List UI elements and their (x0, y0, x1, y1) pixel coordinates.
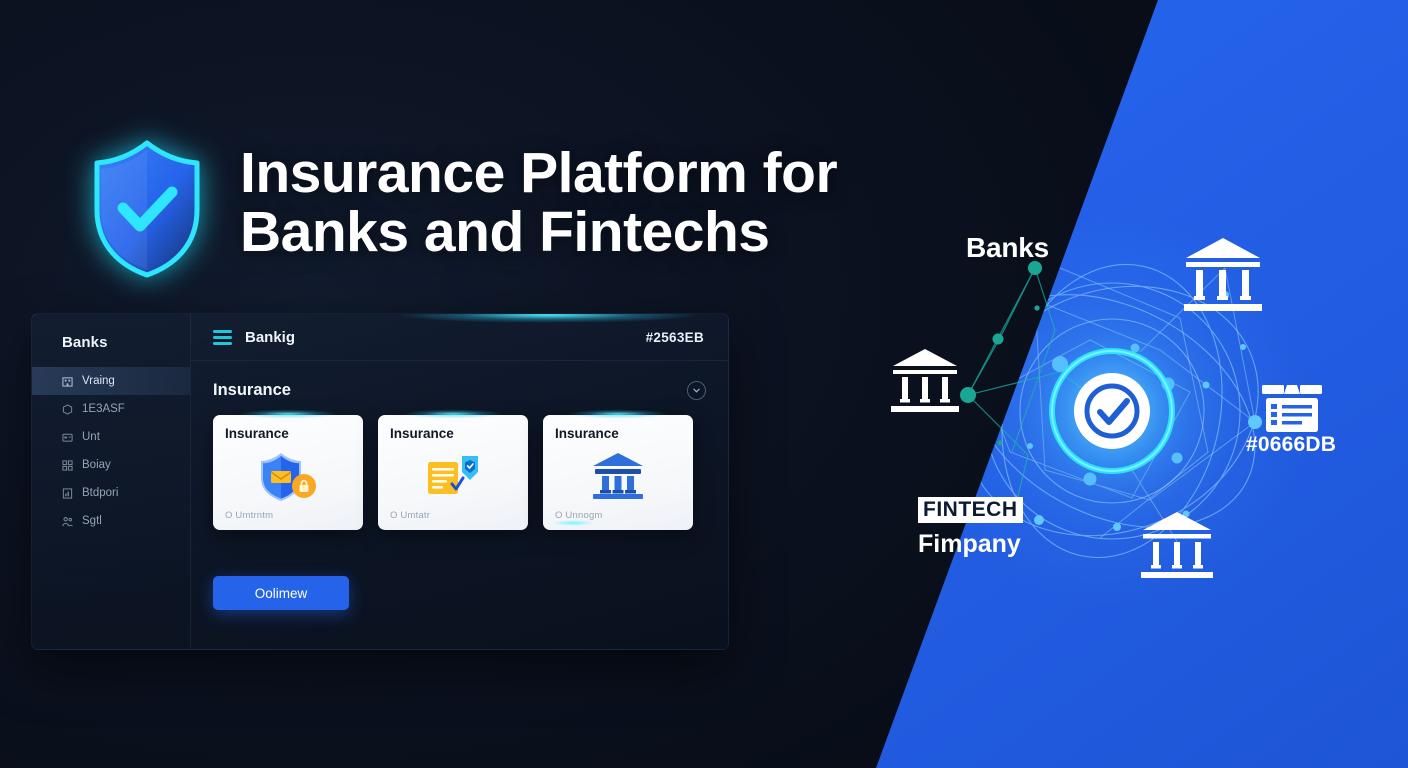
headline-line-1: Insurance Platform for (240, 144, 837, 203)
document-shield-icon (390, 441, 516, 510)
sidebar-item-sgtl[interactable]: Sgtl (32, 507, 190, 535)
sidebar-item-label: Btdpori (82, 487, 118, 499)
report-icon (62, 488, 73, 499)
dashboard-card: Banks Vraing 1E3ASF (31, 313, 729, 650)
building-icon (62, 376, 73, 387)
insurance-tile-shield[interactable]: Insurance (213, 415, 363, 530)
tile-subtitle: O Umtrntm (225, 510, 351, 521)
hero-banner: Banks #0666DB FINTECH Fimpany Insurance … (0, 0, 1408, 768)
section-title: Insurance (213, 381, 291, 400)
insurance-tile-bank[interactable]: Insurance (543, 415, 693, 530)
fintech-badge-label: FINTECH (918, 497, 1023, 523)
tile-subtitle: O Unnogm (555, 510, 681, 521)
dashboard-topbar: Bankig #2563EB (191, 314, 728, 361)
grid-icon (62, 460, 73, 471)
dashboard-main: Bankig #2563EB Insurance Insurance (191, 314, 728, 649)
shield-lock-icon (225, 441, 351, 510)
circle-chevron-icon[interactable] (687, 381, 706, 400)
tile-title: Insurance (390, 426, 516, 441)
sidebar-item-unt[interactable]: Unt (32, 423, 190, 451)
hexagon-icon (62, 404, 73, 415)
dashboard-topbar-title: Bankig (245, 329, 295, 346)
sidebar-title: Banks (32, 334, 190, 367)
fintech-company-name: Fimpany (918, 530, 1023, 559)
sidebar-item-label: Unt (82, 431, 100, 443)
tile-subtitle: O Umtatr (390, 510, 516, 521)
sidebar-item-1e3asf[interactable]: 1E3ASF (32, 395, 190, 423)
card-icon (62, 432, 73, 443)
sidebar-item-label: Sgtl (82, 515, 102, 527)
dashboard-topbar-code: #2563EB (646, 330, 704, 345)
sidebar-item-label: Vraing (82, 375, 115, 387)
bank-left-icon (891, 349, 959, 412)
headline-line-2: Banks and Fintechs (240, 203, 837, 262)
sidebar-item-vraing[interactable]: Vraing (32, 367, 190, 395)
hamburger-icon[interactable] (213, 330, 232, 345)
bank-building-icon (555, 441, 681, 510)
sidebar-item-btdpori[interactable]: Btdpori (32, 479, 190, 507)
diagram-label-banks: Banks (966, 232, 1049, 264)
users-icon (62, 516, 73, 527)
insurance-tile-document[interactable]: Insurance (378, 415, 528, 530)
sidebar-item-boiay[interactable]: Boiay (32, 451, 190, 479)
dashboard-sidebar: Banks Vraing 1E3ASF (32, 314, 191, 649)
shield-check-icon (88, 138, 206, 280)
fintech-logo-block: FINTECH Fimpany (918, 497, 1023, 559)
cta-button[interactable]: Oolimew (213, 576, 349, 610)
tile-title: Insurance (555, 426, 681, 441)
section-header: Insurance (213, 381, 706, 400)
hero-headline-row: Insurance Platform for Banks and Fintech… (88, 138, 837, 280)
sidebar-item-label: 1E3ASF (82, 403, 125, 415)
insurance-tile-list: Insurance (213, 415, 706, 530)
tile-title: Insurance (225, 426, 351, 441)
chevron-down-glyph (693, 387, 700, 394)
sidebar-item-label: Boiay (82, 459, 111, 471)
page-title: Insurance Platform for Banks and Fintech… (240, 138, 837, 261)
diagram-label-code: #0666DB (1246, 433, 1336, 457)
dashboard-content: Insurance Insurance (191, 361, 728, 649)
